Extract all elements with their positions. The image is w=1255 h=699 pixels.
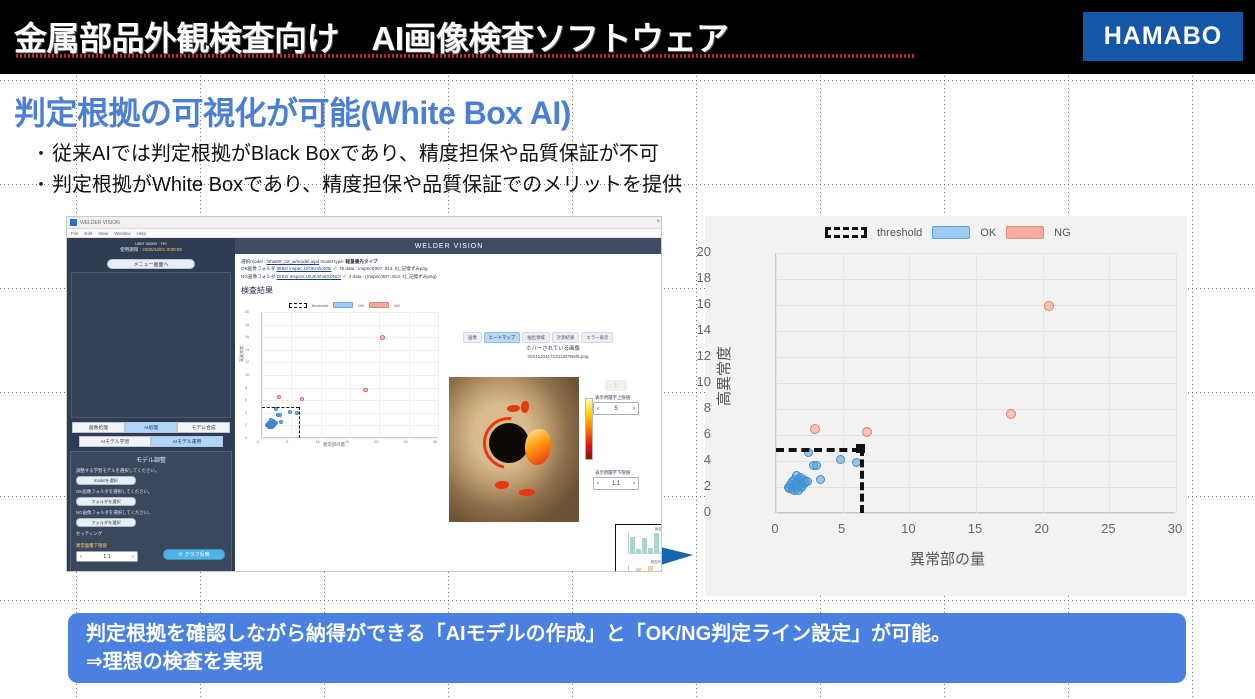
menu-item-file[interactable]: File — [71, 231, 78, 236]
menu-item-help[interactable]: Help — [137, 231, 146, 236]
preview-canvas[interactable] — [71, 272, 231, 418]
check-icon: ✓ — [333, 266, 338, 272]
mini-legend-ok: OK — [358, 303, 364, 308]
ok-legend-swatch — [932, 226, 970, 239]
list-item: ・ 判定根拠がWhite Boxであり、精度担保や品質保証でのメリットを提供 — [30, 171, 682, 199]
y-axis-tick: 16 — [245, 335, 249, 339]
user-name-value: He — [161, 241, 167, 246]
data-point-ok — [279, 420, 283, 424]
y-axis-tick: 6 — [681, 426, 711, 441]
selected-model-label: 選択model : — [241, 259, 265, 264]
y-axis-tick: 18 — [245, 323, 249, 327]
y-axis-tick: 2 — [245, 423, 247, 427]
x-axis-tick: 5 — [286, 440, 288, 444]
grid-line — [262, 438, 438, 439]
anomaly-blob — [525, 429, 551, 465]
model-type-value: 軽量優先タイプ — [345, 259, 377, 264]
app-menu-bar: File Edit View Window Help — [67, 229, 662, 238]
x-axis-tick: 10 — [895, 521, 921, 536]
grid-line — [350, 312, 351, 438]
lower-limit-stepper[interactable]: ‹ 1.1 › — [593, 477, 639, 490]
grid-line — [776, 253, 777, 513]
threshold-line-horizontal — [262, 407, 299, 408]
chart-legend: threshold OK NG — [825, 226, 1071, 239]
data-point-ng — [363, 388, 368, 393]
logo-text: HAMABO — [1104, 22, 1223, 51]
x-axis-tick: 5 — [829, 521, 855, 536]
x-axis-tick: 20 — [1029, 521, 1055, 536]
hist2-title: 良否判定領域の最大異常度 — [616, 558, 662, 564]
app-window-title: WELDER VISION — [80, 220, 120, 226]
mini-chart-xlabel: 異常部の量 — [323, 442, 345, 448]
mini-chart-legend: threshold OK NG — [237, 300, 452, 308]
histogram-area-orange — [628, 565, 662, 572]
data-point-ng — [1006, 409, 1016, 419]
data-point-ng — [1044, 301, 1054, 311]
ng-folder-label: NG画像フォルダを選択してください。 — [76, 510, 226, 516]
stepper-increment-icon[interactable]: › — [132, 554, 134, 560]
histogram-panel: 良否判定領域の面積 良否判定領域の最大異常度 — [615, 524, 662, 572]
histogram-bar — [654, 533, 659, 553]
x-axis-tick: 15 — [962, 521, 988, 536]
heatmap-colorbar — [585, 398, 593, 460]
grid-line — [409, 312, 410, 438]
tab-heatmap[interactable]: ヒートマップ — [484, 332, 520, 343]
hamabo-logo: HAMABO — [1083, 12, 1243, 61]
stepper-decrement-icon[interactable]: ‹ — [597, 406, 599, 412]
processing-tab-row: 画像処理 AI処理 モデル合成 — [72, 422, 230, 433]
histogram-bar — [636, 568, 641, 572]
bullet-text: 従来AIでは判定根拠がBlack Boxであり、精度担保や品質保証が不可 — [52, 140, 659, 168]
ok-folder-label: OK画像フォルダを選択してください。 — [76, 489, 226, 495]
period-value: 2025/12/01 0:00:00 — [142, 247, 182, 252]
app-sidebar: user name : He 使用期限 : 2025/12/01 0:00:00… — [67, 238, 235, 572]
menu-item-view[interactable]: View — [98, 231, 108, 236]
lower-limit-value: 1.1 — [612, 481, 620, 487]
threshold-line-vertical — [299, 407, 300, 439]
model-meta: 選択model : /shot09_02_ai/model.aipd model… — [235, 254, 662, 281]
menu-home-button[interactable]: メニュー画面へ — [107, 259, 195, 269]
threshold-line-horizontal[interactable] — [776, 448, 860, 452]
x-axis-tick: 30 — [1162, 521, 1188, 536]
mini-scatter-chart: threshold OK NG 高異常度 異常部の量 0246810121416… — [237, 300, 452, 460]
plot-area[interactable] — [775, 253, 1175, 513]
ng-legend-swatch — [369, 302, 389, 308]
grid-line — [976, 253, 977, 513]
histogram-bar — [660, 551, 662, 553]
grid-line-h — [0, 80, 1255, 81]
stepper-increment-icon[interactable]: › — [633, 406, 635, 412]
anomaly-speck — [507, 405, 520, 412]
model-type-label: model type: — [320, 259, 344, 264]
anomaly-speck — [495, 481, 509, 489]
model-select-label: 調整する学習モデルを選択してください。 — [76, 468, 226, 474]
histogram-bar — [642, 538, 647, 553]
bullet-marker: ・ — [30, 171, 52, 199]
grid-line — [1109, 253, 1110, 513]
chart-ylabel: 高異常度 — [713, 346, 734, 406]
mini-legend-ng: NG — [394, 303, 400, 308]
upper-limit-value: 5 — [614, 406, 617, 412]
ok-folder-count: 79 data : Inspect(907, 913, 0)_記憶ずみpng — [339, 266, 428, 271]
header-title: 金属部品外観検査向け AI画像検査ソフトウェア — [14, 12, 729, 60]
upper-limit-label: 表示用閾字上限値 — [595, 395, 630, 401]
legend-label-ok: OK — [980, 227, 996, 239]
upper-limit-stepper[interactable]: ‹ 5 › — [593, 402, 639, 415]
bullet-marker: ・ — [30, 140, 52, 168]
data-point-ok — [803, 477, 812, 486]
header-underline-decoration — [16, 54, 916, 58]
ng-folder-meta-label: NG画像フォルダ — [241, 274, 275, 279]
y-axis-tick: 4 — [245, 411, 247, 415]
tab-ai-processing[interactable]: AI処理 — [125, 422, 178, 433]
ok-folder-path[interactable]: 6592/ inspec.U/OK/shot09/ — [276, 266, 331, 271]
chart-xlabel: 異常部の量 — [910, 548, 985, 569]
x-axis-tick: 30 — [433, 440, 437, 444]
ok-legend-swatch — [333, 302, 353, 308]
legend-label-threshold: threshold — [877, 227, 922, 239]
inspection-image[interactable] — [449, 377, 579, 522]
user-name-label: user name : — [135, 241, 159, 246]
x-axis-tick: 25 — [1095, 521, 1121, 536]
data-point-ok — [816, 475, 825, 484]
histogram-bar — [648, 548, 653, 553]
bullet-list: ・ 従来AIでは判定根拠がBlack Boxであり、精度担保や品質保証が不可 ・… — [30, 140, 682, 202]
callout-line-2: ⇒理想の検査を実現 — [86, 648, 1168, 676]
select-model-button[interactable]: modelを選択 — [76, 476, 136, 485]
lower-limit-label: 表示用閾字下限値 — [595, 470, 630, 476]
ai-tab-row: AIモデル学習 AIモデル運用 — [79, 436, 223, 447]
tab-measurement[interactable]: 計測結果 — [552, 332, 580, 343]
tab-error[interactable]: エラー表示 — [581, 332, 613, 343]
data-point-ng — [380, 335, 385, 340]
grid-line-v — [1192, 0, 1193, 699]
ng-folder-count: 4 data : (Inspec(907, 913, 1)_記憶ずみpng) — [349, 274, 437, 279]
model-adjust-panel: モデル調整 調整する学習モデルを選択してください。 modelを選択 OK画像フ… — [70, 451, 232, 572]
x-axis-tick: 15 — [345, 440, 349, 444]
grid-line — [438, 312, 439, 438]
bullet-text: 判定根拠がWhite Boxであり、精度担保や品質保証でのメリットを提供 — [52, 171, 682, 199]
select-ng-folder-button[interactable]: フォルダを選択 — [76, 518, 136, 527]
grid-line — [291, 312, 292, 438]
legend-label-ng: NG — [1054, 227, 1071, 239]
grid-line — [1043, 253, 1044, 513]
data-point-ok — [278, 413, 282, 417]
apply-graph-label: グラフ反映 — [185, 551, 210, 558]
y-axis-tick: 6 — [245, 398, 247, 402]
threshold-scatter-chart: threshold OK NG 高異常度 異常部の量 0246810121416… — [705, 216, 1187, 596]
y-axis-tick: 20 — [245, 310, 249, 314]
x-axis-tick: 0 — [257, 440, 259, 444]
threshold-legend-icon — [825, 227, 867, 238]
x-axis-tick: 10 — [316, 440, 320, 444]
y-axis-tick: 12 — [245, 360, 249, 364]
data-point-ok — [274, 421, 278, 425]
summary-callout: 判定根拠を確認しながら納得ができる「AIモデルの作成」と「OK/NG判定ライン設… — [68, 613, 1186, 683]
tab-image-processing[interactable]: 画像処理 — [72, 422, 125, 433]
tab-ai-training[interactable]: AIモデル学習 — [79, 436, 151, 447]
callout-line-1: 判定根拠を確認しながら納得ができる「AIモデルの作成」と「OK/NG判定ライン設… — [86, 620, 1168, 648]
y-axis-tick: 2 — [681, 478, 711, 493]
app-main-panel: WELDER VISION 選択model : /shot09_02_ai/mo… — [235, 238, 662, 572]
tab-ai-operation[interactable]: AIモデル運用 — [151, 436, 223, 447]
grid-line — [379, 312, 380, 438]
app-brand-title: WELDER VISION — [415, 243, 484, 250]
grid-line — [262, 312, 263, 438]
page-title: 判定根拠の可視化が可能(White Box AI) — [14, 88, 571, 134]
hover-filename: 20241104171311327B5f5.png — [463, 354, 653, 359]
selected-model-path[interactable]: /shot09_02_ai/model.aipd — [267, 259, 320, 264]
y-axis-tick: 0 — [681, 504, 711, 519]
model-panel-title: モデル調整 — [76, 455, 226, 464]
anomaly-speck — [521, 401, 529, 413]
mini-legend-threshold: threshold — [312, 303, 328, 308]
grid-line — [776, 513, 1176, 514]
tab-extracted-region[interactable]: 抽出領域 — [522, 332, 550, 343]
ng-legend-swatch — [1006, 226, 1044, 239]
threshold-handle[interactable] — [856, 444, 865, 453]
menu-item-edit[interactable]: Edit — [84, 231, 92, 236]
y-axis-tick: 12 — [681, 348, 711, 363]
histogram-area-teal — [628, 532, 662, 554]
anomaly-speck — [519, 489, 535, 496]
y-axis-tick: 14 — [681, 322, 711, 337]
data-point-ok — [288, 410, 292, 414]
y-axis-tick: 8 — [245, 386, 247, 390]
y-axis-tick: 14 — [245, 348, 249, 352]
grid-line — [843, 253, 844, 513]
setting-label: セッティング — [76, 531, 226, 537]
threshold-line-vertical[interactable] — [860, 448, 864, 513]
grid-line — [909, 253, 910, 513]
more-options-icon[interactable]: ⋮ — [605, 380, 627, 391]
mini-plot-area[interactable] — [261, 312, 437, 438]
histogram-bar — [630, 537, 635, 553]
tab-model-merge[interactable]: モデル合成 — [177, 422, 230, 433]
y-axis-tick: 10 — [245, 373, 249, 377]
y-axis-tick: 8 — [681, 400, 711, 415]
apply-graph-button[interactable]: ⟳ グラフ反映 — [163, 549, 225, 560]
x-axis-tick: 25 — [404, 440, 408, 444]
y-axis-tick: 4 — [681, 452, 711, 467]
x-axis-tick: 0 — [762, 521, 788, 536]
check-icon: ✓ — [342, 274, 347, 280]
area-threshold-stepper[interactable]: ‹ 1.1 › — [76, 551, 138, 562]
hover-caption: ホバーされている画像 — [463, 344, 643, 352]
tab-image[interactable]: 画像 — [463, 332, 482, 343]
view-tab-row: 画像 ヒートマップ 抽出領域 計測結果 エラー表示 — [463, 332, 613, 343]
y-axis-tick: 16 — [681, 296, 711, 311]
slide-header: 金属部品外観検査向け AI画像検査ソフトウェア HAMABO — [0, 0, 1255, 74]
refresh-icon: ⟳ — [178, 552, 182, 558]
stepper-decrement-icon[interactable]: ‹ — [597, 481, 599, 487]
ng-folder-path[interactable]: D/S2/ Inspect.U/UK/shot03/NG/ — [277, 274, 341, 279]
app-screenshot: WELDER VISION × File Edit View Window He… — [66, 216, 662, 572]
hist1-title: 良否判定領域の面積 — [616, 525, 662, 531]
y-axis-tick: 10 — [681, 374, 711, 389]
histogram-bar — [636, 549, 641, 553]
close-icon[interactable]: × — [656, 219, 660, 225]
grid-line — [321, 312, 322, 438]
menu-item-window[interactable]: Window — [114, 231, 130, 236]
threshold-legend-icon — [289, 303, 307, 308]
data-point-ng — [810, 424, 820, 434]
result-heading: 検査結果 — [235, 281, 662, 296]
area-threshold-value: 1.1 — [103, 554, 111, 560]
stepper-decrement-icon[interactable]: ‹ — [80, 554, 82, 560]
y-axis-tick: 18 — [681, 270, 711, 285]
user-info: user name : He 使用期限 : 2025/12/01 0:00:00 — [67, 238, 235, 255]
ok-folder-meta-label: OK画像フォルダ — [241, 266, 275, 271]
y-axis-tick: 20 — [681, 244, 711, 259]
grid-line — [1176, 253, 1177, 513]
list-item: ・ 従来AIでは判定根拠がBlack Boxであり、精度担保や品質保証が不可 — [30, 140, 682, 168]
data-point-ok — [836, 455, 845, 464]
app-icon — [70, 219, 77, 226]
data-point-ng — [277, 395, 282, 400]
x-axis-tick: 20 — [374, 440, 378, 444]
app-brand-bar: WELDER VISION — [235, 238, 662, 254]
data-point-ok — [812, 461, 821, 470]
stepper-increment-icon[interactable]: › — [633, 481, 635, 487]
histogram-bar — [660, 570, 662, 572]
y-axis-tick: 0 — [245, 436, 247, 440]
select-ok-folder-button[interactable]: フォルダを選択 — [76, 497, 136, 506]
period-label: 使用期限 : — [120, 247, 141, 252]
histogram-bar — [648, 566, 653, 572]
app-title-bar: WELDER VISION × — [67, 217, 662, 229]
grid-line-h — [0, 600, 1255, 601]
